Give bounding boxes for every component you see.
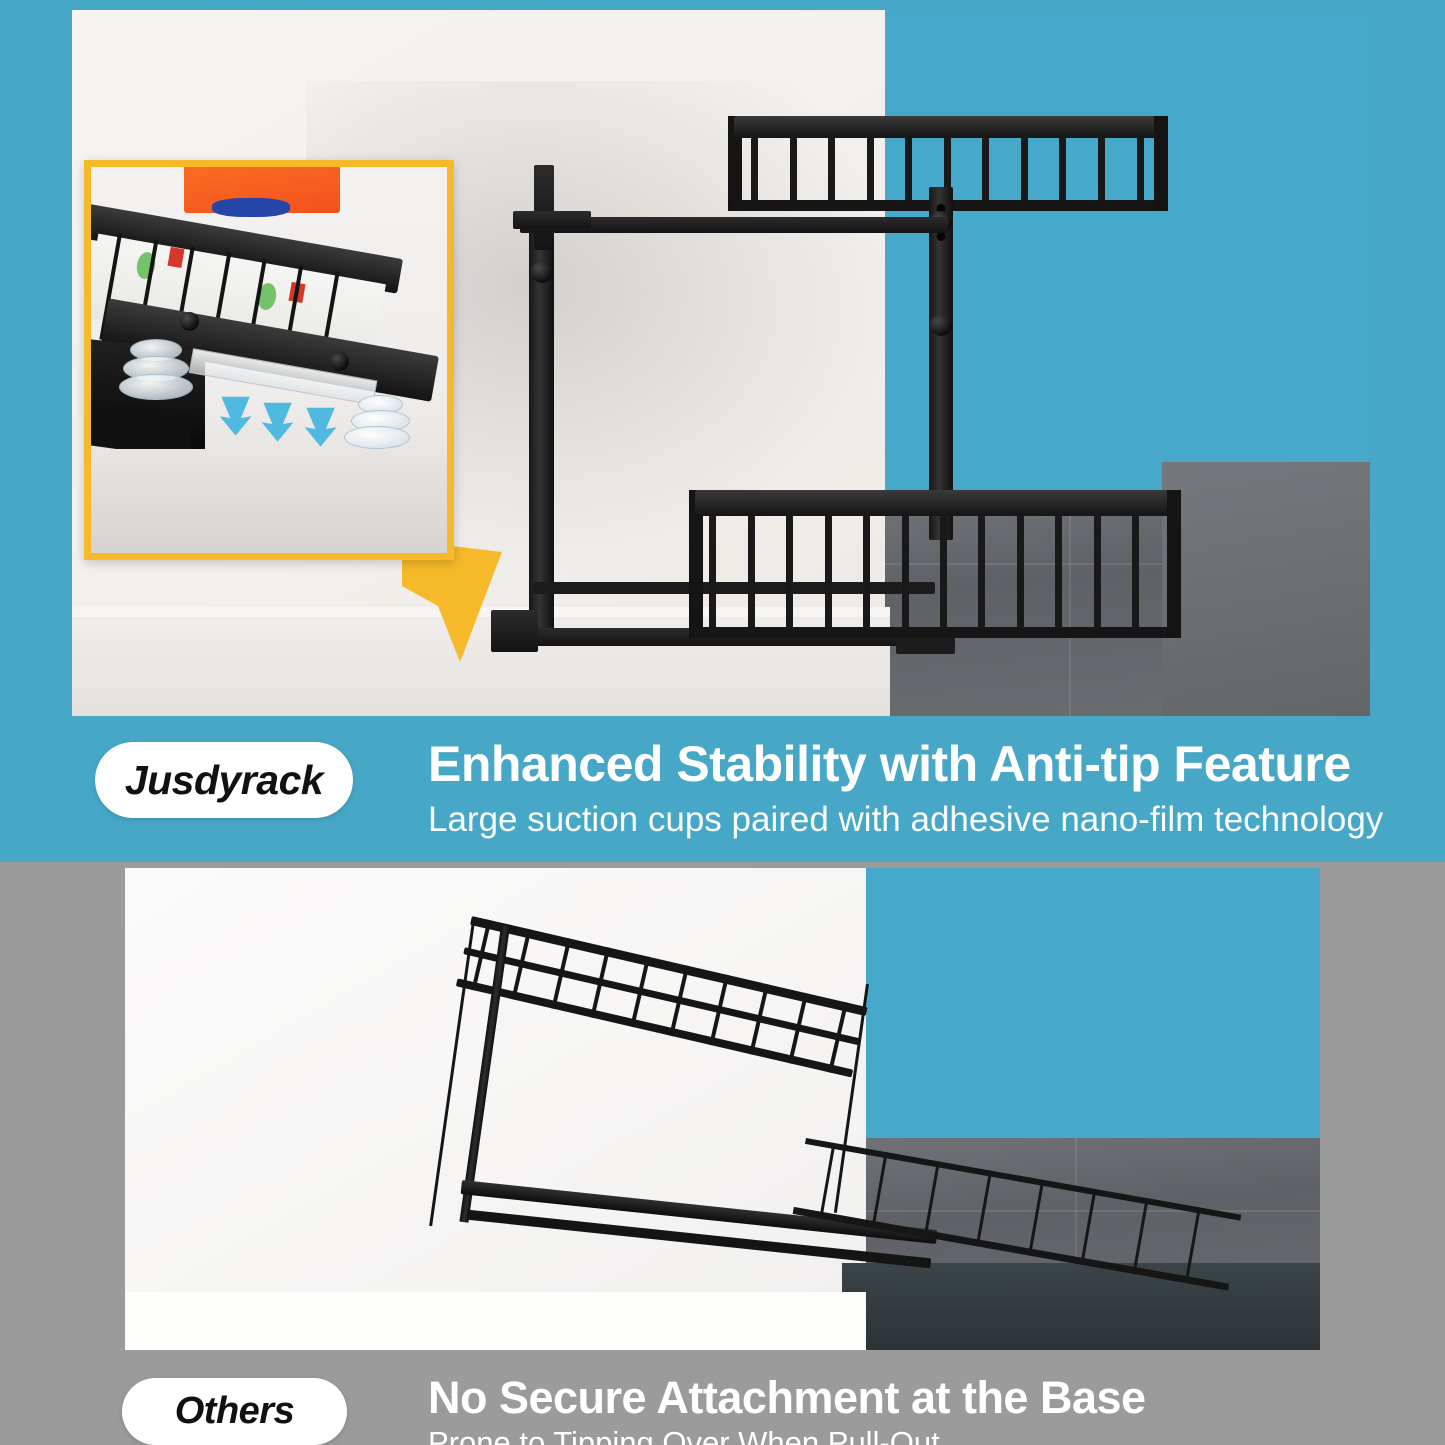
brand-badge-others: Others xyxy=(122,1378,347,1445)
down-arrow-icon-3 xyxy=(301,406,340,448)
green-container-b1 xyxy=(1140,1121,1225,1150)
suction-cup-3 xyxy=(119,374,192,401)
inset-counter-surface xyxy=(91,449,447,553)
refill-bag-b2 xyxy=(1007,979,1100,1134)
rack-tipped: DETERGENTE xyxy=(125,868,1320,1350)
lower-basket-rim xyxy=(695,490,1175,516)
upper-basket-tipped xyxy=(455,916,867,1078)
others-badge-label: Others xyxy=(175,1390,294,1433)
rack-post-left-upper xyxy=(534,165,553,250)
inset-knob-left xyxy=(180,312,199,331)
wood-roller-bottom xyxy=(1179,483,1208,525)
subline-top: Large suction cups paired with adhesive … xyxy=(428,800,1383,840)
suction-cup-6 xyxy=(344,426,410,450)
detergent-label: DETERGENTE xyxy=(1028,1083,1114,1173)
white-box-b1 xyxy=(1137,1133,1228,1195)
headline-top: Enhanced Stability with Anti-tip Feature xyxy=(428,735,1351,793)
comparison-infographic: Jusdyrack Enhanced Stability with Anti-t… xyxy=(0,0,1445,1445)
room-scene-top xyxy=(72,10,1370,716)
upper-basket-rim xyxy=(734,116,1162,138)
lower-basket xyxy=(695,490,1175,638)
rack-top-rail-cap xyxy=(513,211,591,229)
rack-post-left xyxy=(529,222,554,631)
headline-bottom: No Secure Attachment at the Base xyxy=(428,1372,1146,1424)
down-arrow-icon-2 xyxy=(258,401,297,443)
product-photo-others: DETERGENTE xyxy=(125,868,1320,1350)
adjust-knob-left xyxy=(531,261,553,283)
down-arrow-icon-1 xyxy=(216,395,255,437)
refill-bag-b1 xyxy=(896,974,995,1157)
lower-basket-slid xyxy=(793,1138,1242,1291)
product-photo-jusdyrack xyxy=(72,10,1370,716)
inset-bag-blue-swoosh xyxy=(212,198,290,217)
brand-badge-jusdyrack: Jusdyrack xyxy=(95,742,353,818)
adjust-knob-right xyxy=(930,314,952,336)
panel-others: DETERGENTE Others No Secure Attachment a… xyxy=(0,862,1445,1445)
panel-jusdyrack: Jusdyrack Enhanced Stability with Anti-t… xyxy=(0,0,1445,862)
white-box-b xyxy=(839,924,922,975)
instruction-carton-bottom xyxy=(744,868,849,980)
room-scene-bottom: DETERGENTE xyxy=(125,868,1320,1350)
rack-post-right xyxy=(929,187,954,540)
green-container-b xyxy=(841,915,914,942)
inset-knob-right xyxy=(330,352,349,371)
brand-badge-label: Jusdyrack xyxy=(125,757,323,804)
detergent-pouch-b2 xyxy=(631,868,736,957)
subline-bottom: Prone to Tipping Over When Pull-Out xyxy=(428,1425,940,1445)
suction-cup-detail-inset xyxy=(84,160,454,560)
